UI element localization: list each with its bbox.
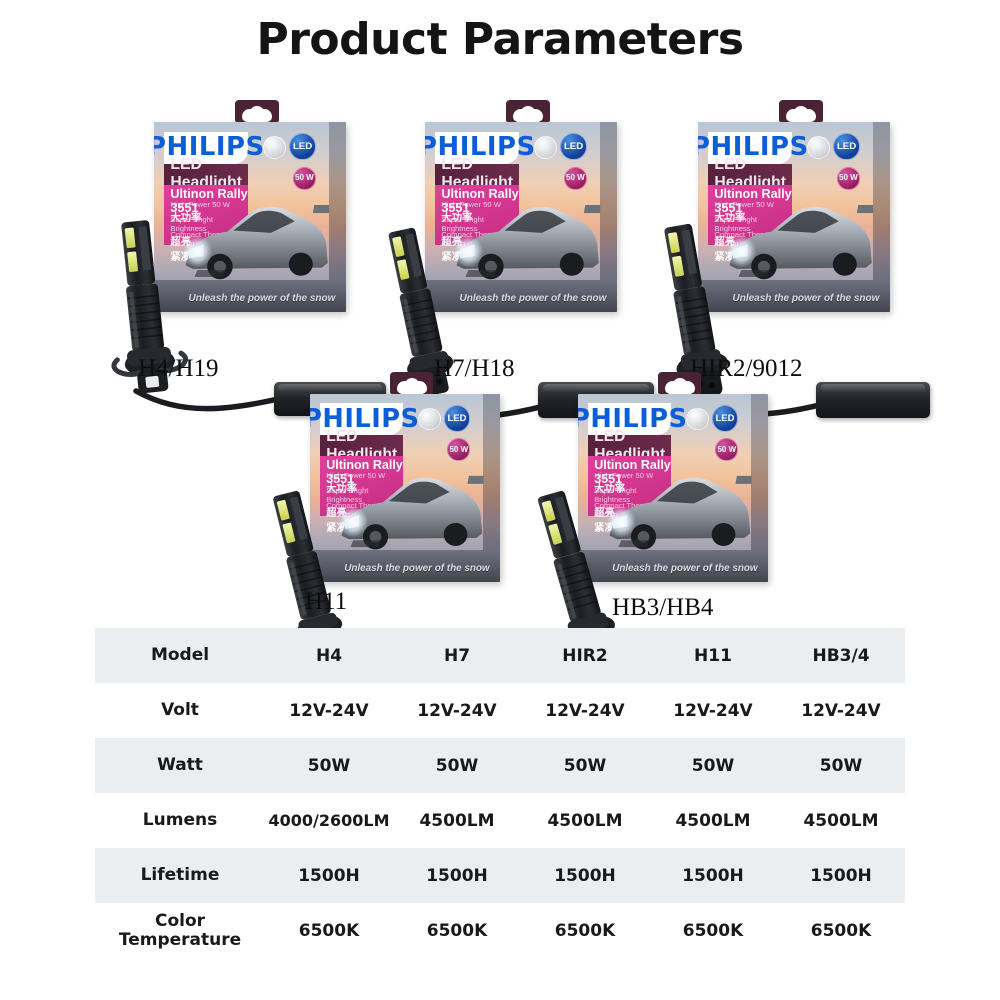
hang-tab-icon — [235, 100, 279, 122]
cell-2-2: 50W — [521, 756, 649, 776]
led-badge-icon: LED — [444, 405, 470, 431]
product-card-h4[interactable]: PHILIPS LED Headlight Ultinon Rally 3551… — [96, 100, 346, 370]
row-label-model: Model — [95, 646, 265, 664]
table-row: Lumens4000/2600LM4500LM4500LM4500LM4500L… — [95, 793, 905, 848]
watt-badge-label: 50 W — [448, 439, 469, 460]
cell-1-1: 12V-24V — [393, 701, 521, 721]
cell-2-4: 50W — [777, 756, 905, 776]
table-row: Color Temperature6500K6500K6500K6500K650… — [95, 903, 905, 958]
cell-4-0: 1500H — [265, 866, 393, 886]
cell-0-4: HB3/4 — [777, 646, 905, 666]
led-badge-icon: LED — [712, 405, 738, 431]
package-tagline: Unleash the power of the snow — [189, 293, 336, 304]
led-badge-label: LED — [713, 406, 737, 430]
badge-group: LED 50 W — [534, 133, 595, 198]
row-label-lifetime: Lifetime — [95, 866, 265, 884]
table-row: Watt50W50W50W50W50W — [95, 738, 905, 793]
row-label-lumens: Lumens — [95, 811, 265, 829]
badge-group: LED 50 W — [686, 405, 747, 469]
cell-2-0: 50W — [265, 756, 393, 776]
category-band: LED Headlight — [435, 164, 519, 185]
category-band: LED Headlight — [588, 435, 672, 456]
cell-1-0: 12V-24V — [265, 701, 393, 721]
hang-tab-icon — [779, 100, 823, 122]
package-tagline: Unleash the power of the snow — [733, 293, 880, 304]
cell-3-0: 4000/2600LM — [265, 811, 393, 830]
badge-group: LED 50 W — [807, 133, 868, 198]
sports-car-illustration — [452, 198, 602, 282]
eco-badge-label — [535, 137, 556, 158]
product-card-hb3[interactable]: PHILIPS LED Headlight Ultinon Rally 3551… — [520, 372, 782, 620]
cell-0-2: HIR2 — [521, 646, 649, 666]
package-tagline: Unleash the power of the snow — [344, 563, 489, 574]
led-badge-label: LED — [561, 134, 586, 159]
cell-5-2: 6500K — [521, 921, 649, 941]
wattage-badge-icon: 50 W — [837, 167, 860, 190]
led-badge-icon: LED — [560, 133, 587, 160]
eco-badge-label — [264, 137, 285, 158]
wattage-badge-icon: 50 W — [564, 167, 587, 190]
wattage-badge-icon: 50 W — [293, 167, 316, 190]
row-label-color-temperature: Color Temperature — [95, 912, 265, 949]
led-badge-label: LED — [445, 406, 469, 430]
sports-car-illustration — [337, 469, 485, 552]
eco-seal-icon — [418, 408, 441, 431]
watt-badge-label: 50 W — [838, 168, 859, 189]
table-row: ModelH4H7HIR2H11HB3/4 — [95, 628, 905, 683]
package-tagline: Unleash the power of the snow — [460, 293, 607, 304]
watt-badge-label: 50 W — [716, 439, 737, 460]
category-band: LED Headlight — [708, 164, 792, 185]
cell-0-1: H7 — [393, 646, 521, 666]
cell-5-3: 6500K — [649, 921, 777, 941]
sports-car-illustration — [605, 469, 753, 552]
product-card-h11[interactable]: PHILIPS LED Headlight Ultinon Rally 3551… — [252, 372, 510, 620]
row-label-watt: Watt — [95, 756, 265, 774]
table-row: Volt12V-24V12V-24V12V-24V12V-24V12V-24V — [95, 683, 905, 738]
eco-seal-icon — [686, 408, 709, 431]
row-label-volt: Volt — [95, 701, 265, 719]
cell-3-4: 4500LM — [777, 811, 905, 831]
sports-car-illustration — [181, 198, 331, 282]
wattage-badge-icon: 50 W — [715, 438, 738, 461]
wattage-badge-icon: 50 W — [447, 438, 470, 461]
page-title: Product Parameters — [0, 14, 1000, 65]
cell-4-2: 1500H — [521, 866, 649, 886]
cell-5-4: 6500K — [777, 921, 905, 941]
badge-group: LED 50 W — [263, 133, 324, 198]
led-badge-label: LED — [834, 134, 859, 159]
product-label-h4: H4/H19 — [138, 355, 219, 383]
product-label-h11: H11 — [305, 588, 347, 616]
category-band: LED Headlight — [164, 164, 248, 185]
cell-1-3: 12V-24V — [649, 701, 777, 721]
watt-badge-label: 50 W — [565, 168, 586, 189]
sports-car-illustration — [725, 198, 875, 282]
hang-tab-icon — [506, 100, 550, 122]
cell-1-2: 12V-24V — [521, 701, 649, 721]
badge-group: LED 50 W — [418, 405, 479, 469]
hang-tab-icon — [390, 372, 434, 394]
eco-badge-label — [808, 137, 829, 158]
eco-seal-icon — [534, 136, 557, 159]
cell-2-3: 50W — [649, 756, 777, 776]
cell-4-4: 1500H — [777, 866, 905, 886]
cell-5-1: 6500K — [393, 921, 521, 941]
table-row: Lifetime1500H1500H1500H1500H1500H — [95, 848, 905, 903]
eco-seal-icon — [263, 136, 286, 159]
led-driver-box-hir2 — [816, 382, 930, 418]
led-badge-label: LED — [290, 134, 315, 159]
eco-seal-icon — [807, 136, 830, 159]
cell-3-2: 4500LM — [521, 811, 649, 831]
cell-4-3: 1500H — [649, 866, 777, 886]
product-label-hb3: HB3/HB4 — [612, 594, 713, 622]
led-badge-icon: LED — [289, 133, 316, 160]
watt-badge-label: 50 W — [294, 168, 315, 189]
led-badge-icon: LED — [833, 133, 860, 160]
category-band: LED Headlight — [320, 435, 404, 456]
product-card-h7[interactable]: PHILIPS LED Headlight Ultinon Rally 3551… — [370, 100, 630, 370]
cell-1-4: 12V-24V — [777, 701, 905, 721]
eco-badge-label — [687, 409, 708, 430]
cell-0-0: H4 — [265, 646, 393, 666]
cell-5-0: 6500K — [265, 921, 393, 941]
cell-2-1: 50W — [393, 756, 521, 776]
cell-3-1: 4500LM — [393, 811, 521, 831]
eco-badge-label — [419, 409, 440, 430]
cell-3-3: 4500LM — [649, 811, 777, 831]
hang-tab-icon — [658, 372, 702, 394]
cell-0-3: H11 — [649, 646, 777, 666]
cell-4-1: 1500H — [393, 866, 521, 886]
package-tagline: Unleash the power of the snow — [612, 563, 757, 574]
product-card-hir2[interactable]: PHILIPS LED Headlight Ultinon Rally 3551… — [640, 100, 900, 370]
spec-table: ModelH4H7HIR2H11HB3/4Volt12V-24V12V-24V1… — [95, 628, 905, 958]
